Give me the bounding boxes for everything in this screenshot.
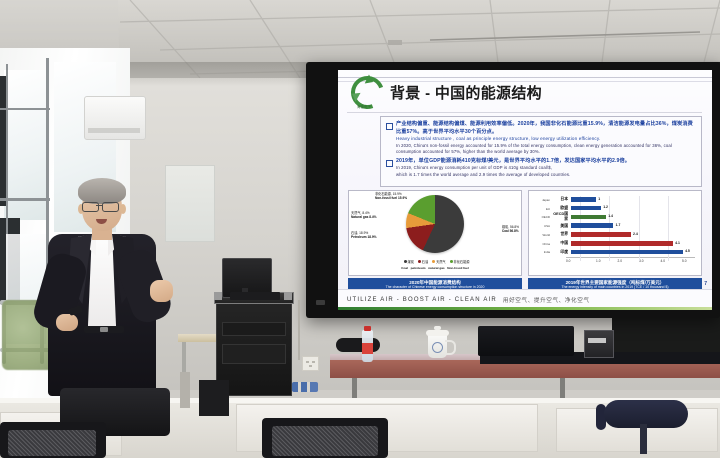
dark-equipment-case <box>336 338 380 352</box>
bar-row: OECD OECD国家 1.4 <box>535 213 695 221</box>
presenter-glasses-right <box>102 202 119 212</box>
slide-header: 海德电子 背景 - 中国的能源结构 <box>338 70 712 114</box>
pie-legend-chinese: 煤炭 石油 天然气 非化石能源 <box>349 259 521 264</box>
bar-chart-card: Japan 日本 1 EU 欧盟 1.2 <box>528 190 702 304</box>
pie-label-coal: 煤炭, 56.8%Coal 56.8% <box>502 225 519 233</box>
bullet-square-icon <box>386 123 393 130</box>
pie-label-natural-gas: 天然气, 8.4%Natural gas 8.4% <box>351 211 377 219</box>
pie-label-petroleum: 石油, 18.9%Petroleum 18.9% <box>351 231 377 239</box>
slide-title: 背景 - 中国的能源结构 <box>390 82 542 103</box>
slide-number: 7 <box>704 281 707 287</box>
company-logo-icon: 海德电子 <box>347 75 381 109</box>
charts-row: 煤炭, 56.8%Coal 56.8% 石油, 18.9%Petroleum 1… <box>348 190 702 304</box>
footer-english: UTILIZE AIR - BOOST AIR - CLEAN AIR <box>347 297 497 303</box>
presenter-glasses-left <box>82 202 99 212</box>
av-equipment-box <box>584 330 614 358</box>
water-bottle-label <box>362 343 373 354</box>
bar-row: World 世界 2.4 <box>535 231 695 239</box>
bar-chart-frame: Japan 日本 1 EU 欧盟 1.2 <box>528 190 702 276</box>
equipment-cabinet <box>199 380 229 416</box>
bullet-square-icon <box>386 160 393 167</box>
display-indicator <box>316 300 325 305</box>
presenter-belt-buckle <box>100 327 108 332</box>
wall-cable <box>298 300 300 360</box>
pie-chart <box>406 195 464 253</box>
bar-chart-x-axis: 0.01.0 2.03.0 4.05.0 <box>566 257 695 263</box>
bullet-1-chinese: 产业结构偏重、能源结构偏煤、能源利用效率偏低。2020年，我国非化石能源比重15… <box>396 121 696 136</box>
water-bottle-cap <box>364 326 371 331</box>
display-screen[interactable]: 海德电子 背景 - 中国的能源结构 产业结构偏重、能源结构偏煤、能源利用效率偏低… <box>338 70 712 310</box>
av-cart-panel <box>222 322 286 336</box>
foreground-bottles <box>292 382 318 392</box>
bar-row: China 中国 4.1 <box>535 240 695 248</box>
presenter-hand-left <box>56 314 78 331</box>
slide-body: 产业结构偏重、能源结构偏煤、能源利用效率偏低。2020年，我国非化石能源比重15… <box>380 116 702 187</box>
tea-mug-emblem <box>432 342 443 353</box>
air-conditioner <box>84 96 146 140</box>
bar-row: Japan 日本 1 <box>535 196 695 204</box>
tea-mug-knob <box>434 326 441 330</box>
bullet-item: 产业结构偏重、能源结构偏煤、能源利用效率偏低。2020年，我国非化石能源比重15… <box>386 121 696 155</box>
av-equipment-label <box>588 338 606 343</box>
office-chair-post <box>640 424 647 454</box>
logo-text: 海德电子 <box>347 106 381 110</box>
presenter-hair <box>78 178 126 204</box>
tea-mug-lid <box>426 330 449 336</box>
tea-mug-handle <box>445 340 456 355</box>
footer-accent-bar <box>338 307 712 310</box>
pie-legend-english: Coal petroleum natural gas Non-fossil fu… <box>349 266 521 270</box>
bullet-item: 2019年，单位GDP能源消耗410克标煤/美元，是世界平均水平的1.7倍，发达… <box>386 158 696 178</box>
keyboard[interactable] <box>230 292 280 300</box>
bar-row: India 印度 4.5 <box>535 248 695 256</box>
bullet-1-english: Heavy industrial structure , coal as pri… <box>396 136 696 143</box>
footer-chinese: 用好空气、提升空气、净化空气 <box>503 296 590 304</box>
pie-chart-frame: 煤炭, 56.8%Coal 56.8% 石油, 18.9%Petroleum 1… <box>348 190 522 276</box>
bullet-2-english-detail: which is 1.7 times the world average and… <box>396 172 696 178</box>
air-conditioner-vent <box>88 128 140 133</box>
av-cart-equipment <box>222 344 286 364</box>
bar-row: USA 美国 1.7 <box>535 222 695 230</box>
bullet-2-chinese: 2019年，单位GDP能源消耗410克标煤/美元，是世界平均水平的1.7倍，发达… <box>396 158 696 166</box>
laptop[interactable] <box>478 326 574 356</box>
power-outlet <box>302 356 319 371</box>
desk-pillar <box>180 372 190 408</box>
pie-label-non-fossil: 非化石能源, 15.9%Non-fossil fuel 15.9% <box>375 192 407 200</box>
presenter <box>28 176 178 396</box>
pie-chart-card: 煤炭, 56.8%Coal 56.8% 石油, 18.9%Petroleum 1… <box>348 190 522 304</box>
bar-chart: Japan 日本 1 EU 欧盟 1.2 <box>535 196 695 270</box>
bullet-1-english-detail: In 2020, China's non-fossil energy accou… <box>396 143 696 155</box>
classroom-presentation-scene: 海德电子 背景 - 中国的能源结构 产业结构偏重、能源结构偏煤、能源利用效率偏低… <box>0 0 720 458</box>
presenter-hand-right <box>150 280 173 302</box>
pie-graphic <box>406 195 464 253</box>
presentation-slide: 海德电子 背景 - 中国的能源结构 产业结构偏重、能源结构偏煤、能源利用效率偏低… <box>338 70 712 310</box>
